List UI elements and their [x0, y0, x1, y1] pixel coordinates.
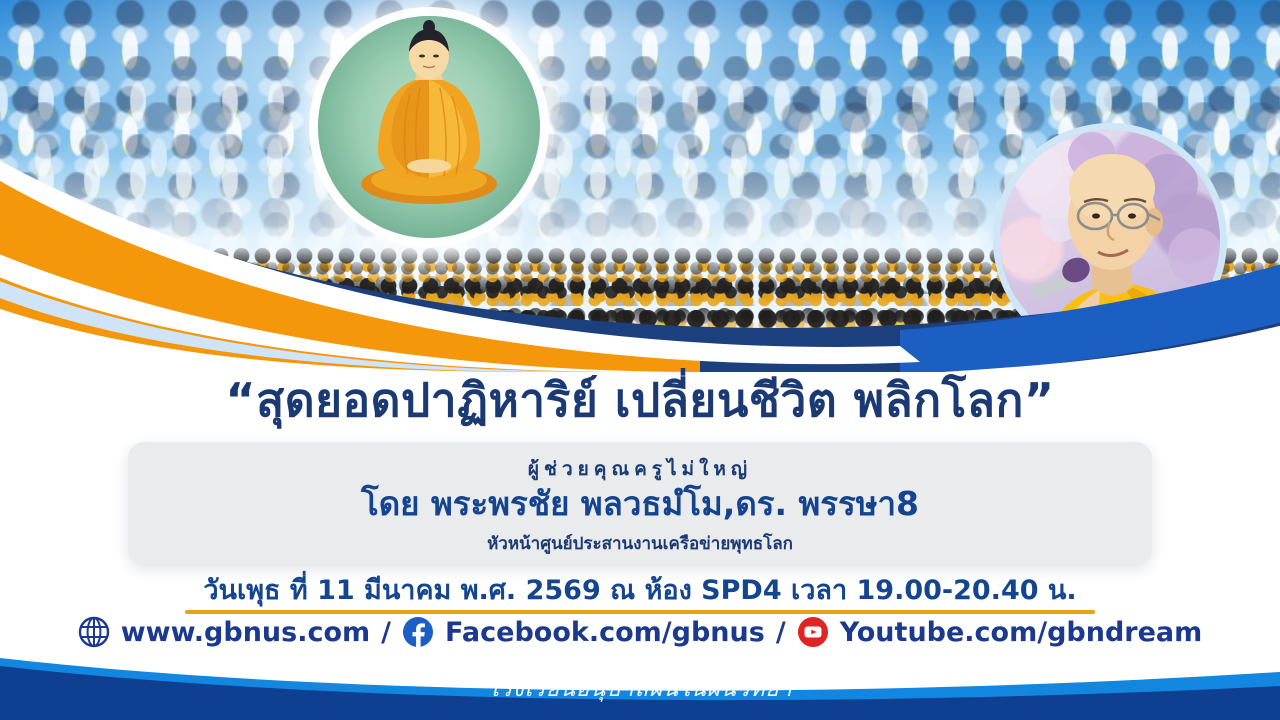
poster-title: “สุดยอดปาฏิหาริย์ เปลี่ยนชีวิต พลิกโลก”	[0, 372, 1280, 428]
organisation-script-text: โรงเรียนอนุบาลฝันในฝันวิทยา	[0, 671, 1280, 706]
speaker-position-line: หัวหน้าศูนย์ประสานงานเครือข่ายพุทธโลก	[128, 530, 1152, 557]
speaker-name-line: โดย พระพรชัย พลวธมํโม,ดร. พรรษา8	[128, 484, 1152, 524]
banner-artwork	[0, 0, 1280, 372]
speaker-role-line: ผู้ช่วยคุณครูไม่ใหญ่	[128, 454, 1152, 484]
banner-swoosh-decoration	[0, 0, 1280, 372]
speaker-info-card: ผู้ช่วยคุณครูไม่ใหญ่ โดย พระพรชัย พลวธมํ…	[128, 442, 1152, 564]
event-poster: “สุดยอดปาฏิหาริย์ เปลี่ยนชีวิต พลิกโลก” …	[0, 0, 1280, 720]
